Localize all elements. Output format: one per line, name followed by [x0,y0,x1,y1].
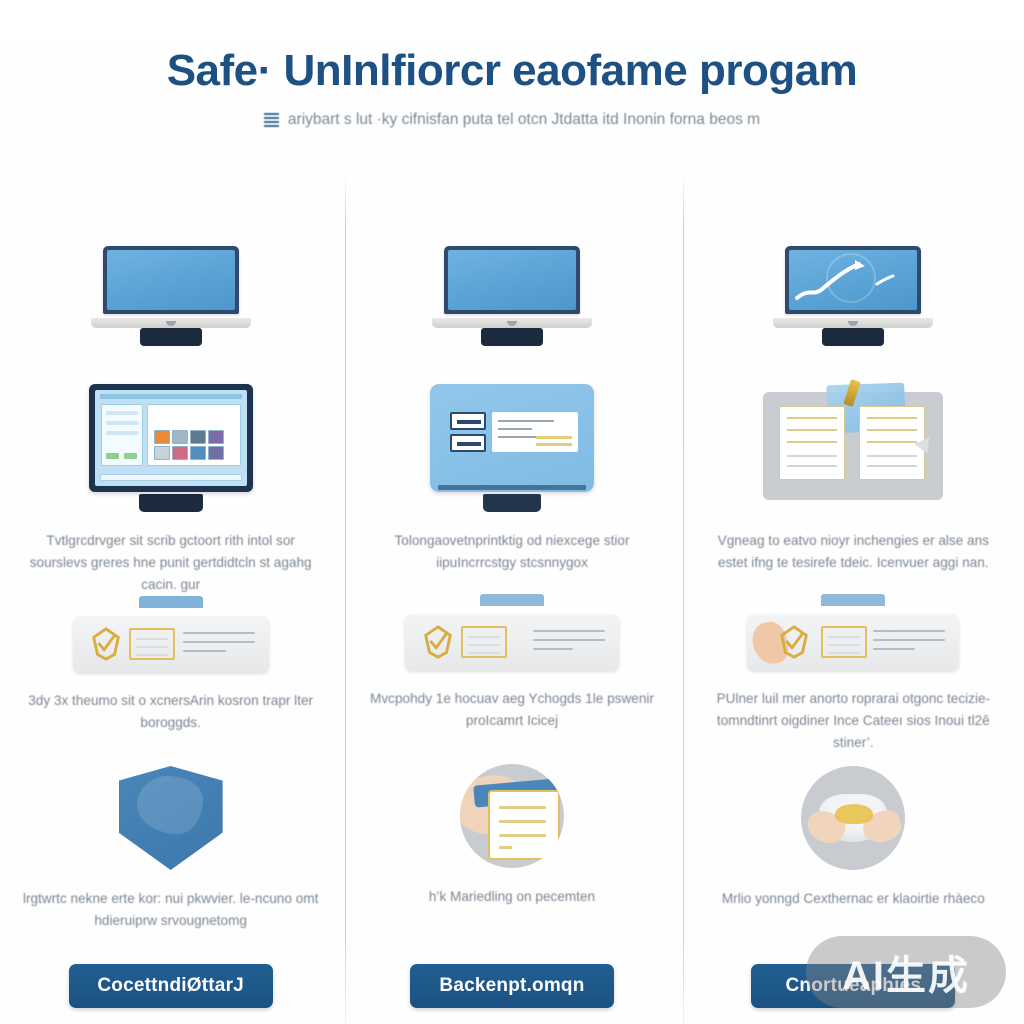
gold-seal-card-wide-icon [405,614,619,670]
bar-tab [821,594,885,606]
card-outline [821,626,867,658]
column-1: Tvtlgrcdrvger sit scrib gctoort rith int… [0,174,341,1024]
card-outline [461,626,507,658]
status-bar [100,474,242,481]
panel-footer [438,485,586,490]
infographic-page: Safe· UnInlfiorcr eaofame progam ariybar… [0,0,1024,1024]
laptop-icon [91,246,251,346]
bar-tab [139,596,203,608]
monitor-viewport [95,390,247,486]
document-card [488,790,560,860]
content-panel [147,404,241,466]
laptop-lid [785,246,921,314]
gold-seal-card-hand-icon [747,614,959,670]
monitor-stand [139,494,203,512]
seal-ribbon-icon [419,624,457,660]
laptop-chart-icon [773,246,933,346]
columns-container: Tvtlgrcdrvger sit scrib gctoort rith int… [0,174,1024,1024]
column-3-text-1: Vgneag to eatvo nioyr inchengies er alse… [705,530,1002,594]
bar-tab [480,594,544,606]
seal-ribbon-icon [87,626,125,662]
column-2-text-2: Mvcpohdy 1e hocuav aeg Ychogds 1le pswen… [363,688,660,752]
text-lines [533,630,605,657]
monitor-bezel [89,384,253,492]
column-1-text-1: Tvtlgrcdrvger sit scrib gctoort rith int… [22,530,319,596]
column-3-cta-button[interactable]: Cnortueaphies [751,964,955,1008]
list-card-2 [450,434,486,452]
shield-icon-block [113,766,229,870]
seal-ribbon-icon [775,624,813,660]
laptop-lid [103,246,239,314]
page-subtitle: ariybart s lut ·ky cifnisfan puta tel ot… [288,111,760,129]
split-documents-icon [763,384,943,512]
column-1-cta-button[interactable]: CocettndiØttarJ [69,964,273,1008]
subtitle-row: ariybart s lut ·ky cifnisfan puta tel ot… [64,111,960,129]
column-2-text-3: h’k Mariedling on pecemten [363,886,660,950]
trend-line-icon [789,250,917,310]
laptop-screen [789,250,917,310]
laptop-lid [444,246,580,314]
monitor-dashboard-icon [89,384,253,512]
window-titlebar [100,394,242,399]
page-header: Safe· UnInlfiorcr eaofame progam ariybar… [0,0,1024,172]
document-circle-icon [460,764,564,868]
column-2: Tolongaovetnprintktig od niexcege stior … [341,174,682,1024]
laptop-stand [140,328,202,346]
hands-cup-icon-block [795,766,911,870]
monitor-stand [483,494,541,512]
column-1-text-2: 3dy 3x theumo sit o xcnersArin kosron tr… [22,690,319,754]
column-2-text-1: Tolongaovetnprintktig od niexcege stior … [363,530,660,594]
laptop-screen [448,250,576,310]
document-page-left [779,406,845,480]
column-3-text-3: Mrlio yonngd Cexthernac er klaoirtie rhà… [705,888,1002,952]
laptop-stand [481,328,543,346]
hands-cup-icon [801,766,905,870]
gold-seal-card-icon [73,616,269,672]
list-card-1 [450,412,486,430]
text-lines [183,632,255,659]
text-lines [873,630,945,657]
list-icon [264,113,279,128]
monitor-body [430,384,594,492]
card-outline [129,628,175,660]
laptop-stand [822,328,884,346]
laptop-icon [432,246,592,346]
shield-icon [119,766,223,870]
detail-panel [492,412,578,452]
sidebar-panel [101,404,143,466]
monitor-blue-panel-icon [430,384,594,512]
thumbnail-grid [154,430,224,460]
laptop-screen [107,250,235,310]
page-title: Safe· UnInlfiorcr eaofame progam [64,48,960,94]
document-circle-icon-block [454,764,570,868]
gold-accent [835,804,873,824]
column-1-text-3: lrgtwrtc nekne erte kor: nui pkwvier. le… [22,888,319,952]
column-3-text-2: PUlner luil mer anorto roprarai otgonc t… [705,688,1002,754]
column-2-cta-button[interactable]: Backenpt.omqn [410,964,614,1008]
column-3: Vgneag to eatvo nioyr inchengies er alse… [683,174,1024,1024]
